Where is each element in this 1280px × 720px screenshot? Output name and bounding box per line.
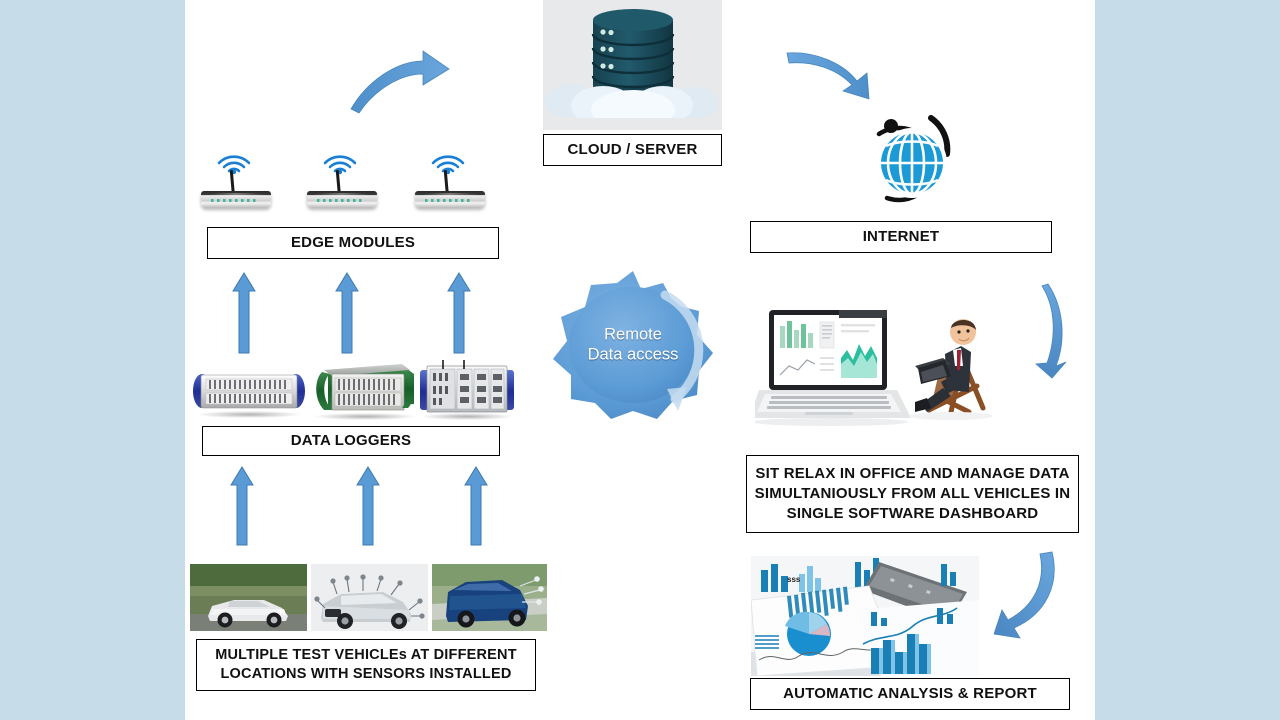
test-vehicle-photo-3 bbox=[432, 564, 547, 631]
edge-module-router-3 bbox=[413, 150, 487, 210]
label-data-loggers: DATA LOGGERS bbox=[202, 426, 500, 456]
router-body bbox=[307, 191, 377, 208]
arrow-up-icon bbox=[334, 272, 360, 354]
arrow-up-icon bbox=[446, 272, 472, 354]
router-body bbox=[415, 191, 485, 208]
cloud-icon bbox=[543, 84, 722, 130]
analytics-report-photo: sss bbox=[751, 556, 979, 676]
svg-text:sss: sss bbox=[787, 575, 801, 584]
wifi-signal-icon bbox=[317, 150, 363, 176]
globe-icon bbox=[857, 108, 967, 216]
curved-arrow-down-left-icon bbox=[990, 548, 1070, 648]
label-cloud-server: CLOUD / SERVER bbox=[543, 134, 722, 166]
curved-arrow-right-icon bbox=[345, 45, 455, 115]
test-vehicle-photo-1 bbox=[190, 564, 307, 631]
arrow-up-icon bbox=[231, 272, 257, 354]
data-logger-device-3 bbox=[417, 360, 517, 416]
cloud-server-graphic bbox=[543, 0, 722, 130]
arrow-up-icon bbox=[463, 466, 489, 546]
slide-page: EDGE MODULES bbox=[185, 0, 1095, 720]
label-automatic-report: AUTOMATIC ANALYSIS & REPORT bbox=[750, 678, 1070, 710]
edge-module-router-1 bbox=[199, 150, 273, 210]
router-body bbox=[201, 191, 271, 208]
arrow-up-icon bbox=[229, 466, 255, 546]
data-logger-device-2 bbox=[310, 360, 420, 416]
internet-globe-graphic bbox=[857, 108, 967, 216]
office-dashboard-graphic bbox=[755, 300, 1010, 430]
diagram-canvas: EDGE MODULES bbox=[0, 0, 1280, 720]
remote-data-access-gear: Remote Data access bbox=[547, 267, 719, 422]
curved-arrow-right-icon bbox=[785, 45, 885, 101]
gear-label: Remote Data access bbox=[547, 324, 719, 365]
label-test-vehicles: MULTIPLE TEST VEHICLEs AT DIFFERENT LOCA… bbox=[196, 639, 536, 691]
curved-arrow-down-icon bbox=[1030, 282, 1076, 380]
arrow-up-icon bbox=[355, 466, 381, 546]
label-edge-modules: EDGE MODULES bbox=[207, 227, 499, 259]
data-logger-device-1 bbox=[193, 366, 305, 414]
laptop-dashboard-icon bbox=[755, 310, 911, 426]
label-office-dashboard: SIT RELAX IN OFFICE AND MANAGE DATA SIMU… bbox=[746, 455, 1079, 533]
edge-module-router-2 bbox=[305, 150, 379, 210]
label-internet: INTERNET bbox=[750, 221, 1052, 253]
test-vehicle-photo-2 bbox=[311, 564, 428, 631]
businessman-deckchair-icon bbox=[909, 319, 993, 420]
wifi-signal-icon bbox=[211, 150, 257, 176]
wifi-signal-icon bbox=[425, 150, 471, 176]
